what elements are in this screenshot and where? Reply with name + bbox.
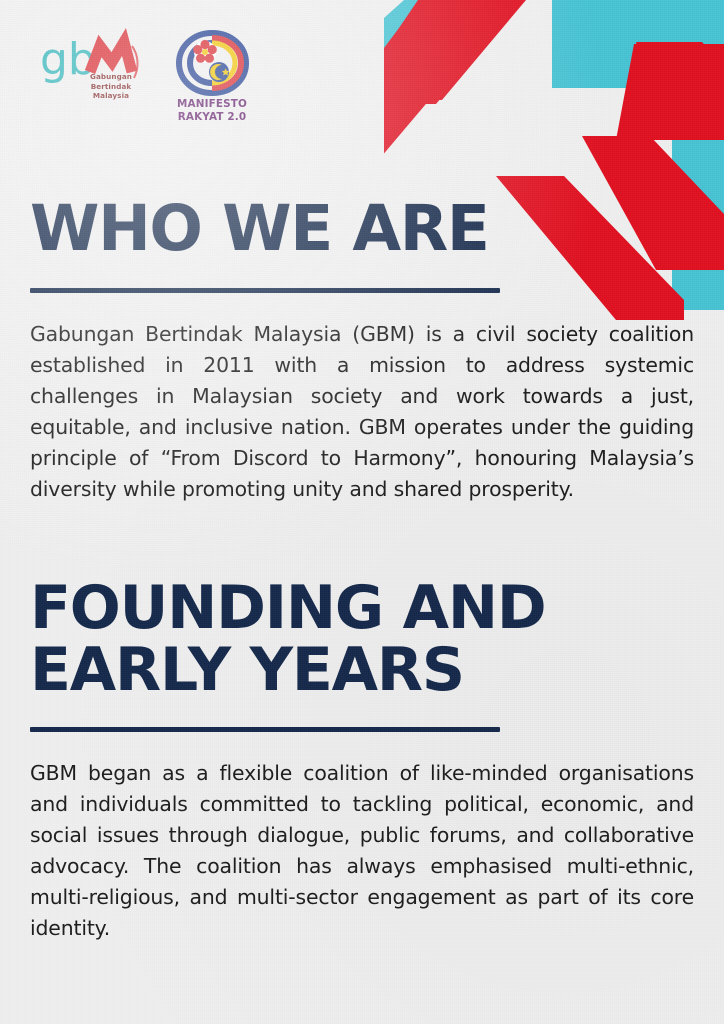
gbm-tagline-line2: Malaysia [93, 91, 129, 100]
content-area: WHO WE ARE Gabungan Bertindak Malaysia (… [30, 196, 694, 944]
logo-row: gb Gabungan Bertindak Malaysia [38, 28, 260, 124]
manifesto-line1: MANIFESTO [177, 98, 247, 110]
section-1-title: WHO WE ARE [30, 196, 694, 262]
section-1-title-line-1: WHO WE ARE [30, 196, 694, 262]
manifesto-wordmark: MANIFESTO RAKYAT 2.0 [164, 98, 260, 123]
section-2-title: FOUNDING AND EARLY YEARS [30, 577, 694, 702]
gbm-tagline-line1: Gabungan Bertindak [90, 72, 132, 91]
section-founding-early-years: FOUNDING AND EARLY YEARS GBM began as a … [30, 577, 694, 945]
section-who-we-are: WHO WE ARE Gabungan Bertindak Malaysia (… [30, 196, 694, 505]
manifesto-logo: MANIFESTO RAKYAT 2.0 [164, 30, 260, 124]
section-2-title-line-2: EARLY YEARS [30, 639, 694, 701]
section-2-body: GBM began as a flexible coalition of lik… [30, 758, 694, 944]
gbm-tagline: Gabungan Bertindak Malaysia [72, 72, 150, 101]
manifesto-line2: RAKYAT 2.0 [178, 111, 246, 123]
poster-canvas: gb Gabungan Bertindak Malaysia [0, 0, 724, 1024]
manifesto-emblem-icon [172, 30, 252, 96]
section-2-divider [30, 727, 500, 732]
gbm-logo: gb Gabungan Bertindak Malaysia [38, 28, 146, 108]
section-1-body: Gabungan Bertindak Malaysia (GBM) is a c… [30, 319, 694, 505]
section-1-divider [30, 288, 500, 293]
section-2-title-line-1: FOUNDING AND [30, 577, 694, 639]
